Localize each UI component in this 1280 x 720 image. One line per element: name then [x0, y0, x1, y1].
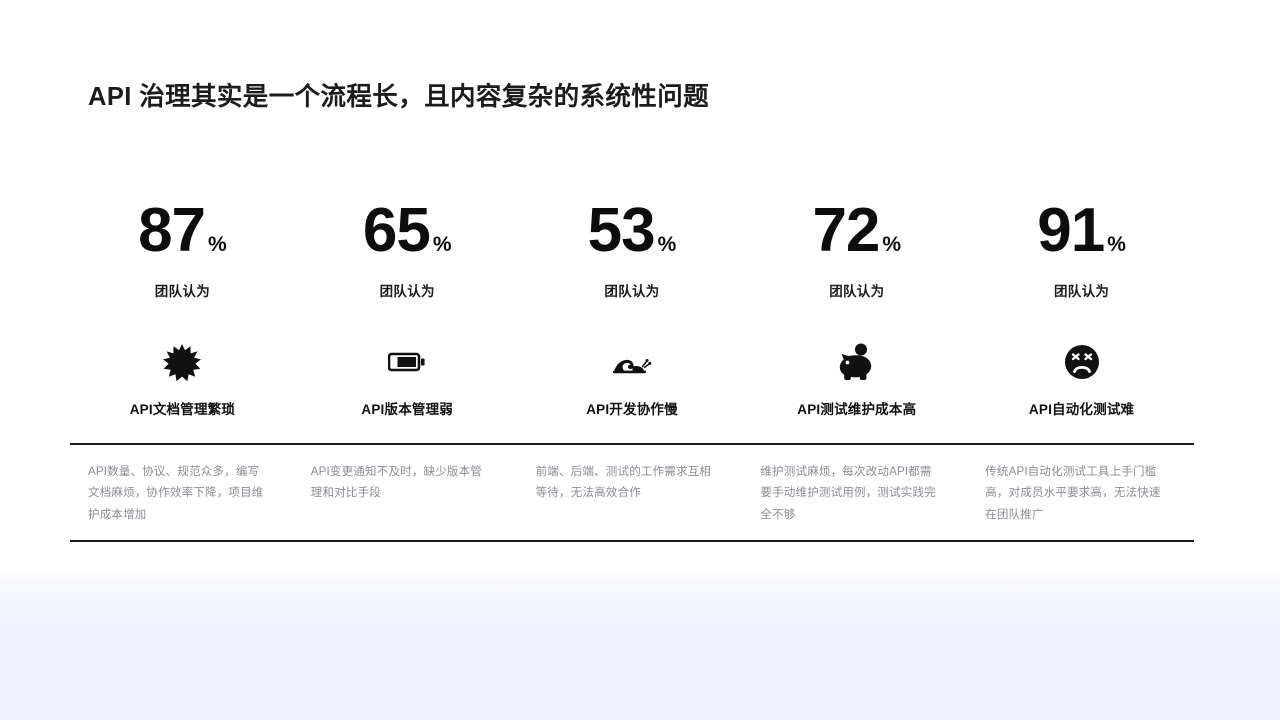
stat-value: 87 %	[138, 200, 227, 262]
low-battery-icon	[388, 342, 426, 382]
description-cell: API变更通知不及时，缺少版本管理和对比手段	[295, 445, 520, 540]
stat-percent-sign: %	[882, 233, 901, 257]
page-title: API 治理其实是一个流程长，且内容复杂的系统性问题	[88, 76, 709, 113]
stat-label: API自动化测试难	[1029, 398, 1134, 418]
stat-column: 65 % 团队认为 API版本管理弱	[295, 200, 520, 418]
bottom-gradient-wash	[0, 570, 1280, 720]
stat-percent-sign: %	[208, 233, 227, 257]
stat-subtitle: 团队认为	[829, 280, 884, 300]
stat-percent-sign: %	[658, 233, 677, 257]
stat-percent-sign: %	[1107, 233, 1126, 257]
stat-percent-sign: %	[433, 233, 452, 257]
stats-row: 87 % 团队认为 API文档管理繁琐 65 % 团队认为	[70, 200, 1194, 418]
stat-value: 65 %	[363, 200, 452, 262]
stat-label: API开发协作慢	[586, 398, 678, 418]
description-table: API数量、协议、规范众多，编写文档麻烦，协作效率下降，项目维护成本增加 API…	[70, 443, 1194, 542]
stat-column: 53 % 团队认为 API开发协作慢	[520, 200, 745, 418]
slide-canvas: API 治理其实是一个流程长，且内容复杂的系统性问题 87 % 团队认为 API…	[0, 0, 1280, 720]
stat-label: API测试维护成本高	[797, 398, 916, 418]
stat-label: API文档管理繁琐	[130, 398, 235, 418]
stat-column: 87 % 团队认为 API文档管理繁琐	[70, 200, 295, 418]
stat-label: API版本管理弱	[361, 398, 453, 418]
sparkle-burst-icon	[163, 342, 201, 382]
stat-value: 91 %	[1037, 200, 1126, 262]
stat-subtitle: 团队认为	[1054, 280, 1109, 300]
stat-number: 65	[363, 200, 430, 262]
stat-subtitle: 团队认为	[604, 280, 659, 300]
stat-column: 91 % 团队认为 API自动化测试难	[969, 200, 1194, 418]
piggy-bank-icon	[837, 342, 877, 382]
stat-subtitle: 团队认为	[155, 280, 210, 300]
frowning-face-icon	[1064, 342, 1100, 382]
stat-number: 53	[588, 200, 655, 262]
stat-number: 72	[812, 200, 879, 262]
description-cell: 前端、后端、测试的工作需求互相等待，无法高效合作	[520, 445, 745, 540]
description-cell: 传统API自动化测试工具上手门槛高，对成员水平要求高，无法快速在团队推广	[969, 445, 1194, 540]
stat-value: 72 %	[812, 200, 901, 262]
description-cell: API数量、协议、规范众多，编写文档麻烦，协作效率下降，项目维护成本增加	[70, 445, 295, 540]
description-cell: 维护测试麻烦，每次改动API都需要手动维护测试用例，测试实践完全不够	[744, 445, 969, 540]
stat-number: 87	[138, 200, 205, 262]
stat-subtitle: 团队认为	[380, 280, 435, 300]
stat-column: 72 % 团队认为 API测试维护成本高	[744, 200, 969, 418]
stat-value: 53 %	[588, 200, 677, 262]
stat-number: 91	[1037, 200, 1104, 262]
snail-icon	[611, 342, 653, 382]
